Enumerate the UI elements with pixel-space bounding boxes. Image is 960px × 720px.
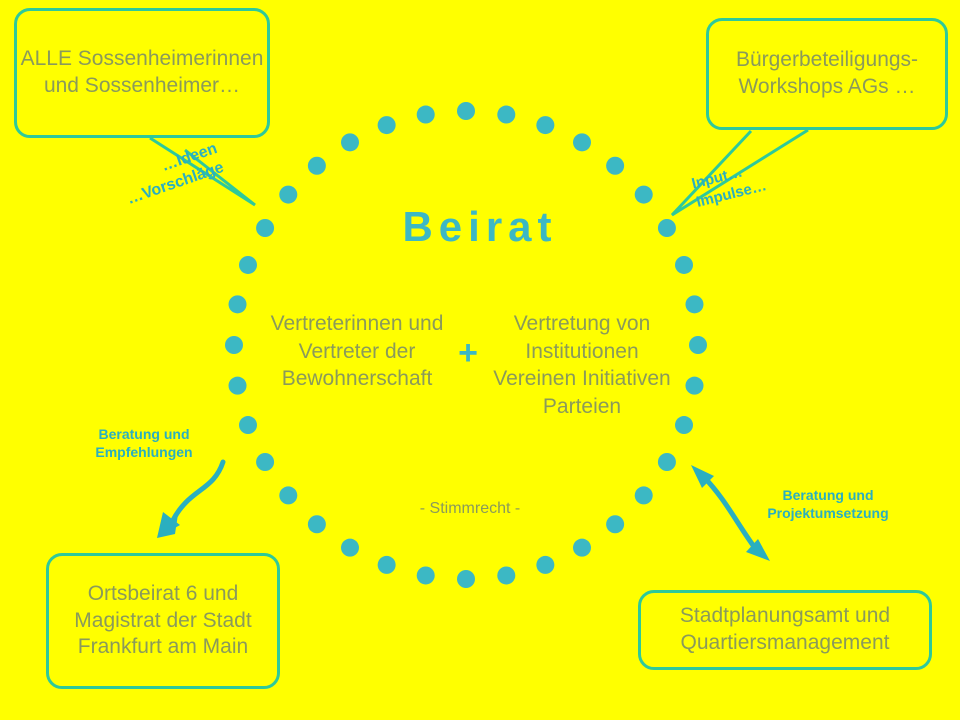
- box-ortsbeirat-magistrat-label: Ortsbeirat 6 und Magistrat der Stadt Fra…: [49, 581, 277, 662]
- center-column-left: Vertreterinnen und Vertreter der Bewohne…: [262, 310, 452, 393]
- plus-icon: +: [448, 334, 488, 373]
- bubble-all-citizens: ALLE Sossenheimerinnen und Sossenheimer…: [14, 8, 270, 138]
- page-title: Beirat: [0, 203, 960, 251]
- center-column-right: Vertretung von Institutionen Vereinen In…: [492, 310, 672, 421]
- label-beratung-empfehlungen: Beratung und Empfehlungen: [74, 426, 214, 461]
- voting-right-note: - Stimmrecht -: [350, 500, 590, 518]
- bubble-participation-workshops: Bürgerbeteiligungs- Workshops AGs …: [706, 18, 948, 130]
- diagram-canvas: Beirat Vertreterinnen und Vertreter der …: [0, 0, 960, 720]
- box-ortsbeirat-magistrat: Ortsbeirat 6 und Magistrat der Stadt Fra…: [46, 553, 280, 689]
- box-stadtplanungsamt-quartiersmanagement: Stadtplanungsamt und Quartiersmanagement: [638, 590, 932, 670]
- bubble-all-citizens-label: ALLE Sossenheimerinnen und Sossenheimer…: [17, 46, 267, 100]
- bubble-participation-workshops-label: Bürgerbeteiligungs- Workshops AGs …: [709, 47, 945, 101]
- label-beratung-projektumsetzung: Beratung und Projektumsetzung: [748, 487, 908, 522]
- arrow-beratung-empfehlungen: [172, 462, 223, 522]
- box-stadtplanungsamt-quartiersmanagement-label: Stadtplanungsamt und Quartiersmanagement: [641, 603, 929, 657]
